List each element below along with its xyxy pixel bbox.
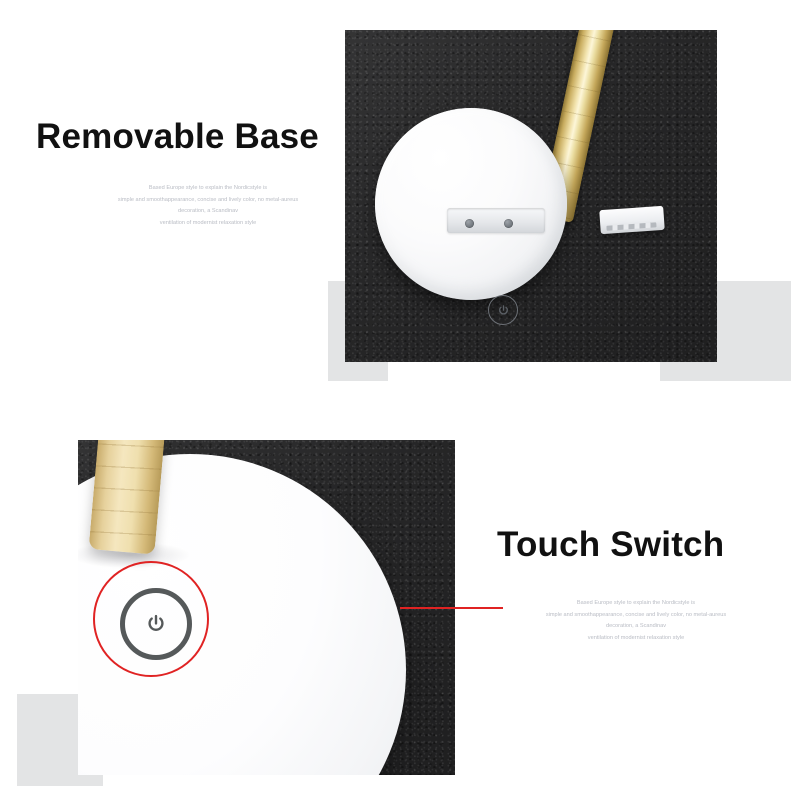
connector-slot — [447, 208, 545, 233]
blurb-line: decoration, a Scandinav — [508, 621, 764, 633]
blurb-line: ventilation of modernist relaxation styl… — [58, 218, 358, 230]
photo-touch-switch — [78, 440, 455, 775]
annotation-circle — [93, 561, 209, 677]
heading-touch-switch: Touch Switch — [497, 525, 724, 565]
photo-removable-base — [345, 30, 717, 362]
blurb-line: simple and smoothappearance, concise and… — [508, 610, 764, 622]
blurb-touch-switch: Based Europe style to explain the Nordic… — [508, 598, 764, 644]
wooden-pole — [89, 440, 166, 555]
blurb-line: decoration, a Scandinav — [58, 206, 358, 218]
removable-base-disc — [375, 108, 567, 300]
blurb-line: Based Europe style to explain the Nordic… — [58, 183, 358, 195]
power-icon — [488, 295, 518, 325]
blurb-removable-base: Based Europe style to explain the Nordic… — [58, 183, 358, 229]
blurb-line: ventilation of modernist relaxation styl… — [508, 633, 764, 645]
annotation-leader-line — [400, 607, 503, 609]
blurb-line: Based Europe style to explain the Nordic… — [508, 598, 764, 610]
infographic-canvas: Removable Base Based Europe style to exp… — [0, 0, 800, 800]
blurb-line: simple and smoothappearance, concise and… — [58, 195, 358, 207]
heading-removable-base: Removable Base — [36, 117, 319, 157]
rod-connector-foot — [599, 206, 665, 234]
